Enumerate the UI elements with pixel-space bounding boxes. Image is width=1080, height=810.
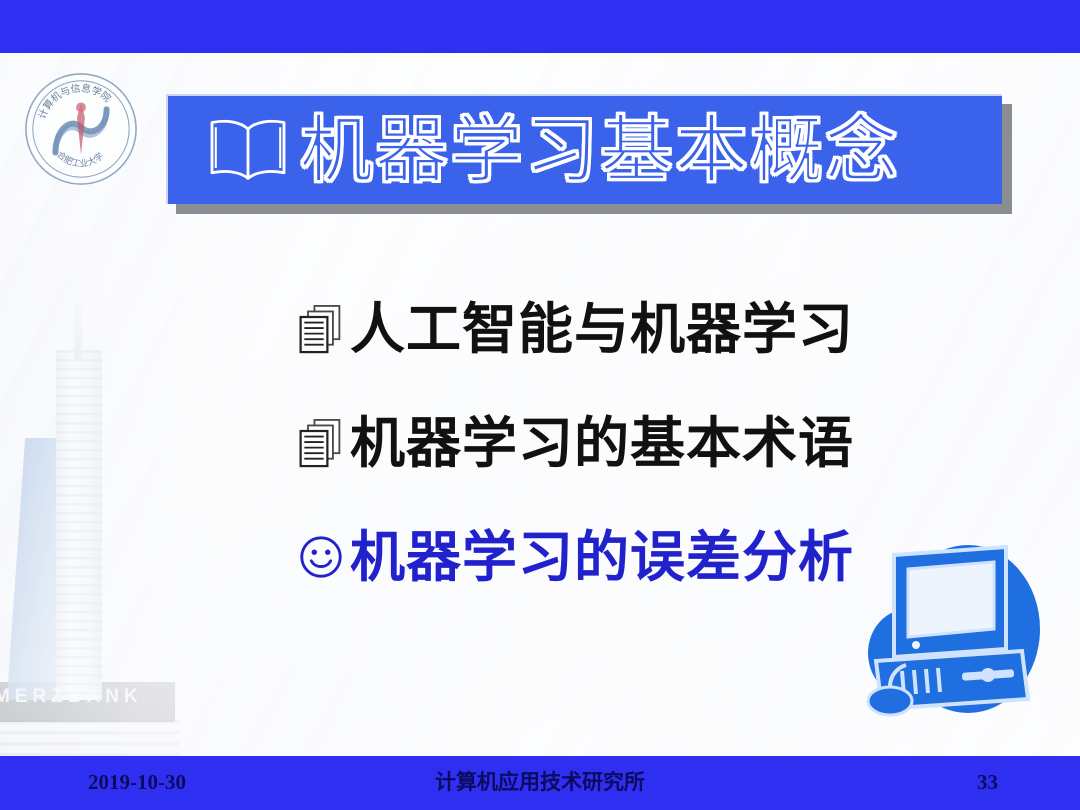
- documents-icon: [296, 413, 350, 473]
- page-title: 机器学习基本概念: [300, 114, 900, 187]
- bullet-list: 人工智能与机器学习 机器学习的基本术语: [296, 292, 976, 634]
- university-logo: 计算机与信息学院 合肥工业大学: [22, 70, 140, 188]
- list-item-label: 人工智能与机器学习: [350, 302, 854, 357]
- list-item[interactable]: 机器学习的基本术语: [296, 406, 976, 480]
- footer-page-number: 33: [977, 756, 998, 810]
- list-item-label: 机器学习的误差分析: [350, 530, 854, 585]
- footer-organization: 计算机应用技术研究所: [0, 756, 1080, 810]
- documents-icon: [296, 299, 350, 359]
- top-border-band: [0, 0, 1080, 53]
- smiley-face-icon: [296, 527, 350, 587]
- presentation-slide: MERZBANK 计算机与信息学院 合肥工业大学: [0, 0, 1080, 810]
- list-item[interactable]: 人工智能与机器学习: [296, 292, 976, 366]
- title-banner: 机器学习基本概念: [166, 94, 1002, 204]
- list-item[interactable]: 机器学习的误差分析: [296, 520, 976, 594]
- open-book-icon: [202, 111, 294, 189]
- list-item-label: 机器学习的基本术语: [350, 416, 854, 471]
